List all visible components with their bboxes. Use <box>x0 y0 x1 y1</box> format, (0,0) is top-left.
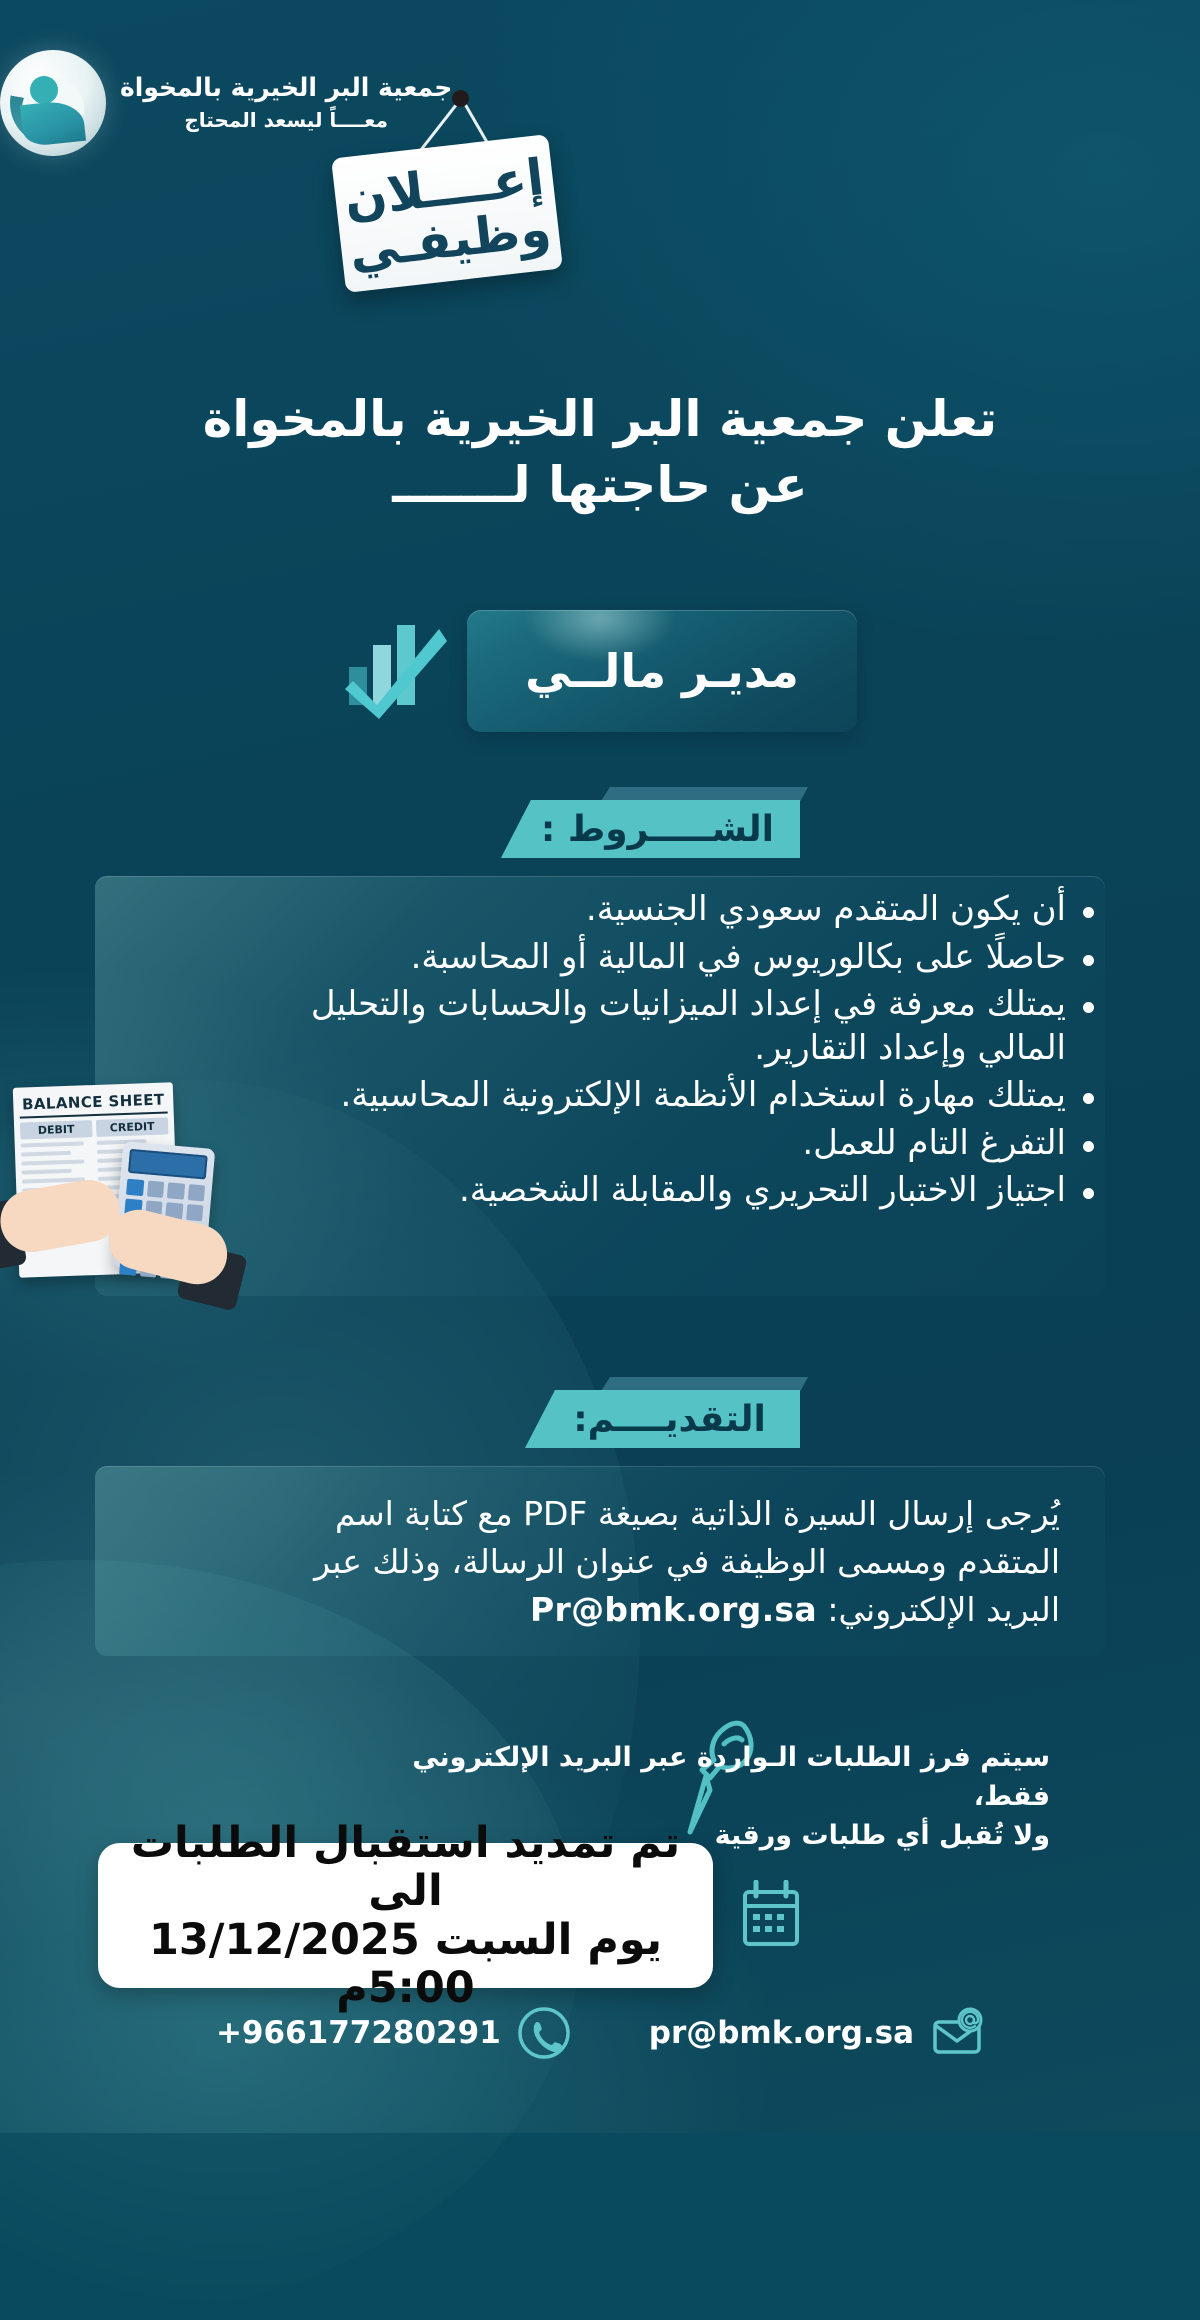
hands-balance-sheet-calculator-illustration: BALANCE SHEET DEBIT CREDIT <box>0 1085 300 1300</box>
list-item: حاصلًا على بكالوريوس في المالية أو المحا… <box>224 936 1104 980</box>
column-header-debit: DEBIT <box>20 1120 93 1140</box>
list-item: أن يكون المتقدم سعودي الجنسية. <box>224 888 1104 932</box>
conditions-list: أن يكون المتقدم سعودي الجنسية. حاصلًا عل… <box>224 888 1104 1217</box>
page-title: تعلن جمعية البر الخيرية بالمخواة عن حاجت… <box>0 386 1200 518</box>
phone-contact[interactable]: +966177280291 <box>216 2006 571 2060</box>
email-address: pr@bmk.org.sa <box>649 2015 914 2051</box>
sign-plate: إعــــلان وظيفـي <box>331 134 563 293</box>
headline-line-1: تعلن جمعية البر الخيرية بالمخواة <box>203 390 997 448</box>
envelope-at-icon <box>930 2006 984 2060</box>
whatsapp-phone-icon <box>517 2006 571 2060</box>
hanging-sign: إعــــلان وظيفـي <box>330 90 630 300</box>
list-item: اجتياز الاختبار التحريري والمقابلة الشخص… <box>224 1169 1104 1213</box>
phone-number: +966177280291 <box>216 2015 501 2051</box>
column-header-credit: CREDIT <box>96 1117 169 1137</box>
list-item: يمتلك مهارة استخدام الأنظمة الإلكترونية … <box>224 1074 1104 1118</box>
apply-instructions: يُرجى إرسال السيرة الذاتية بصيغة PDF مع … <box>260 1490 1060 1635</box>
calculator-screen <box>128 1149 208 1180</box>
job-title-badge: مديـر مالــي <box>467 610 857 732</box>
headline-line-2: عن حاجتها لـــــــ <box>110 452 1090 518</box>
conditions-section-header: الشـــــروط : <box>501 800 800 858</box>
note-line-1: سيتم فرز الطلبات الـواردة عبر البريد الإ… <box>350 1738 1050 1816</box>
job-title-label: مديـر مالــي <box>525 644 799 698</box>
extension-line-1: تم تمديد استقبال الطلبات الى <box>131 1818 680 1916</box>
apply-section-header: التقديــــم: <box>525 1390 800 1448</box>
hand-right <box>103 1203 234 1290</box>
apply-header-label: التقديــــم: <box>573 1399 766 1440</box>
list-item: التفرغ التام للعمل. <box>224 1122 1104 1166</box>
email-contact[interactable]: pr@bmk.org.sa <box>649 2006 984 2060</box>
sign-nail-icon <box>452 90 469 107</box>
deadline-extension-box: تم تمديد استقبال الطلبات الى يوم السبت 1… <box>98 1843 713 1988</box>
conditions-header-label: الشـــــروط : <box>541 809 774 850</box>
calendar-icon <box>740 1880 802 1950</box>
contact-bar: +966177280291 pr@bmk.org.sa <box>0 1993 1200 2073</box>
balance-sheet-title: BALANCE SHEET <box>19 1090 168 1118</box>
list-item: يمتلك معرفة في إعداد الميزانيات والحسابا… <box>224 983 1104 1070</box>
bar-chart-checkmark-icon <box>343 619 451 723</box>
apply-email[interactable]: Pr@bmk.org.sa <box>530 1586 817 1634</box>
charity-globe-person-logo-icon <box>0 50 106 156</box>
job-title-row: مديـر مالــي <box>0 610 1200 732</box>
